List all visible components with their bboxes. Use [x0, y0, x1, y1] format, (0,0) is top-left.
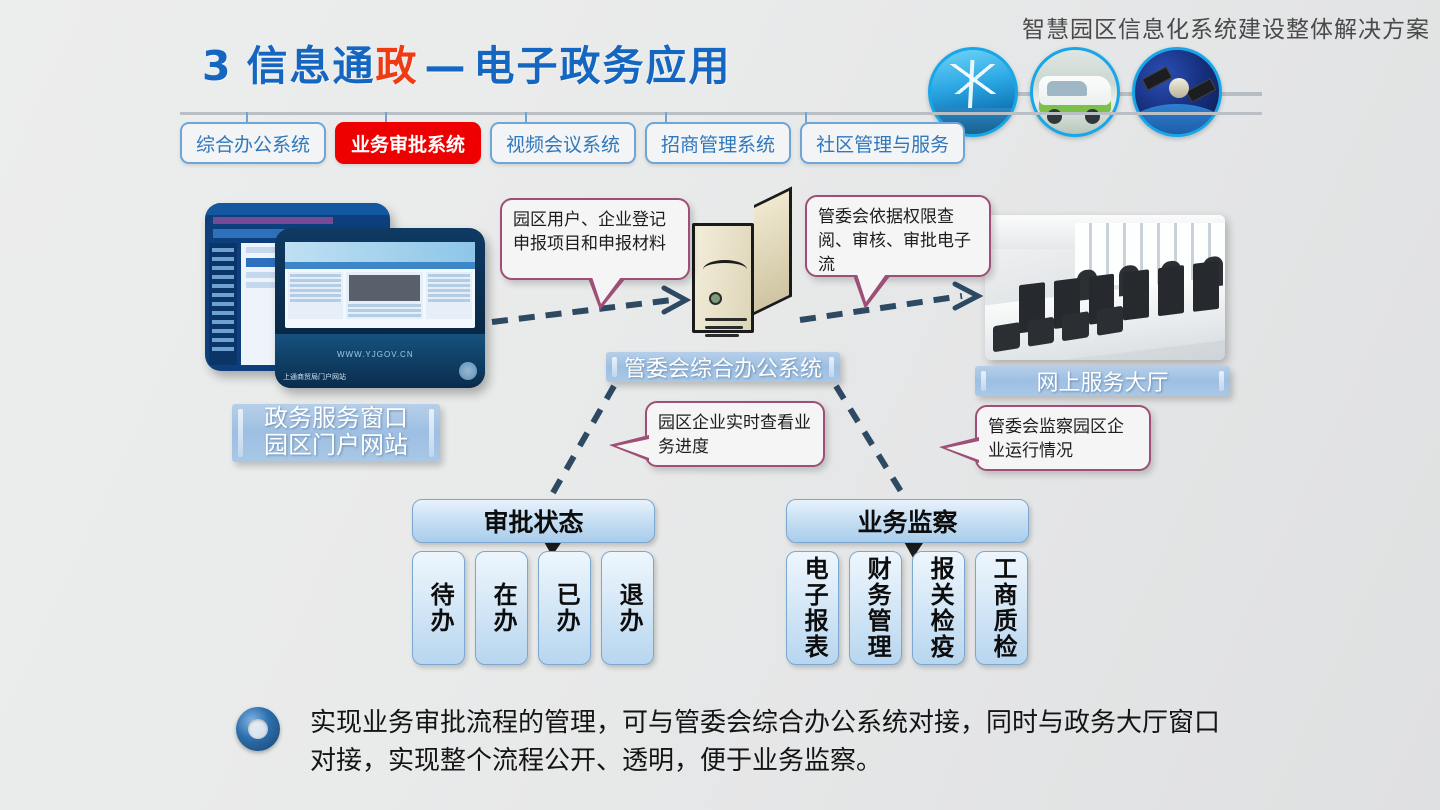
- portal-website-screenshot: WWW.YJGOV.CN 上通商贸局门户网站: [275, 228, 485, 388]
- group-approval-status-cells: 待办 在办 已办 退办: [412, 551, 653, 665]
- cell-pending[interactable]: 待办: [412, 551, 465, 665]
- group-business-monitor-title: 业务监察: [786, 499, 1029, 543]
- banner-portal-line2: 园区门户网站: [264, 433, 408, 460]
- tab-investment-management[interactable]: 招商管理系统: [645, 122, 791, 164]
- cell-customs-quarantine[interactable]: 报关检疫: [912, 551, 965, 665]
- callout-review-text: 管委会依据权限查阅、审核、审批电子流: [818, 207, 971, 275]
- screenshot-url-text: WWW.YJGOV.CN: [337, 350, 414, 359]
- callout-progress-tail: [609, 435, 649, 461]
- cell-in-progress[interactable]: 在办: [475, 551, 528, 665]
- service-hall-photo: [985, 215, 1225, 360]
- cell-industry-quality[interactable]: 工商质检: [975, 551, 1028, 665]
- page-title: 3信息通政—电子政务应用: [202, 32, 732, 92]
- tab-rule: [180, 112, 1262, 115]
- callout-declare-tail: [588, 278, 626, 310]
- tab-video-conference[interactable]: 视频会议系统: [490, 122, 636, 164]
- banner-service-hall: 网上服务大厅: [975, 366, 1230, 396]
- callout-declare-text: 园区用户、企业登记申报项目和申报材料: [513, 210, 666, 254]
- electric-car-badge-icon: [1030, 47, 1120, 137]
- slide-root: 智慧园区信息化系统建设整体解决方案 3信息通政—电子政务应用 综合办公系统 业务…: [0, 0, 1440, 810]
- footer-line1: 实现业务审批流程的管理，可与管委会综合办公系统对接，同时与政务大厅窗口: [310, 705, 1270, 743]
- banner-government-service-window: 政务服务窗口 园区门户网站: [232, 404, 440, 462]
- cell-electronic-report[interactable]: 电子报表: [786, 551, 839, 665]
- satellite-badge-icon: [1132, 47, 1222, 137]
- cell-finance-management[interactable]: 财务管理: [849, 551, 902, 665]
- callout-declare: 园区用户、企业登记申报项目和申报材料: [500, 198, 690, 280]
- page-title-part2: 电子政务应用: [474, 42, 732, 90]
- footer-description: 实现业务审批流程的管理，可与管委会综合办公系统对接，同时与政务大厅窗口 对接，实…: [310, 705, 1270, 780]
- tab-business-approval[interactable]: 业务审批系统: [335, 122, 481, 164]
- page-title-highlight: 政: [376, 42, 419, 90]
- banner-oa-system: 管委会综合办公系统: [606, 352, 840, 382]
- tab-comprehensive-office[interactable]: 综合办公系统: [180, 122, 326, 164]
- page-title-part1: 信息通: [247, 42, 376, 90]
- tab-bar[interactable]: 综合办公系统 业务审批系统 视频会议系统 招商管理系统 社区管理与服务: [180, 122, 965, 164]
- screenshot-caption: 上通商贸局门户网站: [283, 372, 346, 382]
- callout-supervise: 管委会监察园区企业运行情况: [975, 405, 1151, 471]
- banner-portal-line1: 政务服务窗口: [264, 406, 408, 433]
- cell-completed[interactable]: 已办: [538, 551, 591, 665]
- group-business-monitor: 业务监察 电子报表 财务管理 报关检疫 工商质检: [786, 499, 1027, 665]
- callout-review: 管委会依据权限查阅、审核、审批电子流: [805, 195, 991, 277]
- page-title-number: 3: [202, 42, 233, 90]
- group-business-monitor-cells: 电子报表 财务管理 报关检疫 工商质检: [786, 551, 1027, 665]
- callout-progress: 园区企业实时查看业务进度: [645, 401, 825, 467]
- group-approval-status-title: 审批状态: [412, 499, 655, 543]
- page-title-dash: —: [425, 42, 468, 90]
- callout-progress-text: 园区企业实时查看业务进度: [658, 413, 811, 457]
- cell-returned[interactable]: 退办: [601, 551, 654, 665]
- bullet-ring-icon: [236, 707, 280, 751]
- group-approval-status: 审批状态 待办 在办 已办 退办: [412, 499, 653, 665]
- callout-supervise-text: 管委会监察园区企业运行情况: [988, 417, 1124, 461]
- header-subtitle: 智慧园区信息化系统建设整体解决方案: [950, 10, 1430, 44]
- tab-community-service[interactable]: 社区管理与服务: [800, 122, 965, 164]
- footer-line2: 对接，实现整个流程公开、透明，便于业务监察。: [310, 743, 1270, 781]
- callout-review-tail: [853, 275, 891, 309]
- server-icon: [692, 205, 794, 333]
- callout-supervise-tail: [939, 437, 979, 463]
